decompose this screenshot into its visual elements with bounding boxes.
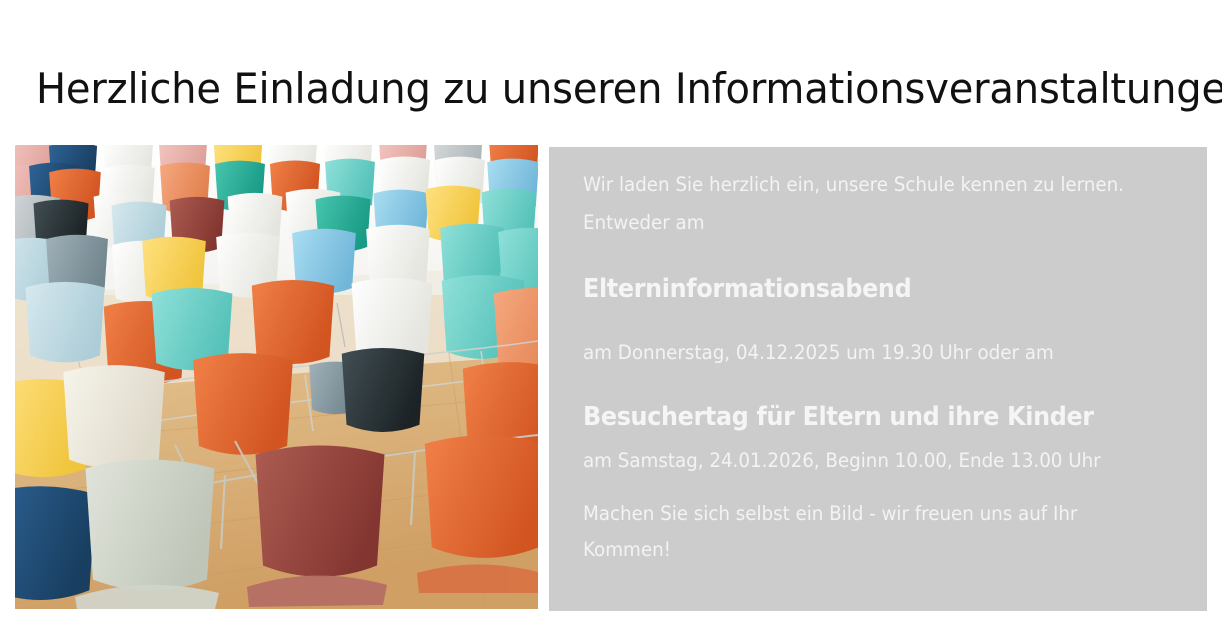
closing-paragraph: Machen Sie sich selbst ein Bild - wir fr… [583, 496, 1141, 568]
event-two-detail: am Samstag, 24.01.2026, Beginn 10.00, En… [583, 442, 1141, 480]
chairs-illustration [15, 145, 538, 609]
auditorium-chairs-photo [15, 145, 538, 609]
spacer [583, 480, 1177, 496]
spacer [583, 372, 1177, 400]
spacer [583, 306, 1177, 334]
page-title: Herzliche Einladung zu unseren Informati… [36, 61, 1155, 121]
event-one-title: Elterninformationsabend [583, 272, 1138, 306]
spacer [583, 434, 1177, 442]
event-two-title: Besuchertag für Eltern und ihre Kinder [583, 400, 1138, 434]
spacer [583, 242, 1177, 272]
event-info-panel: Wir laden Sie herzlich ein, unsere Schul… [549, 147, 1207, 611]
intro-paragraph: Wir laden Sie herzlich ein, unsere Schul… [583, 166, 1141, 242]
event-one-detail: am Donnerstag, 04.12.2025 um 19.30 Uhr o… [583, 334, 1141, 372]
